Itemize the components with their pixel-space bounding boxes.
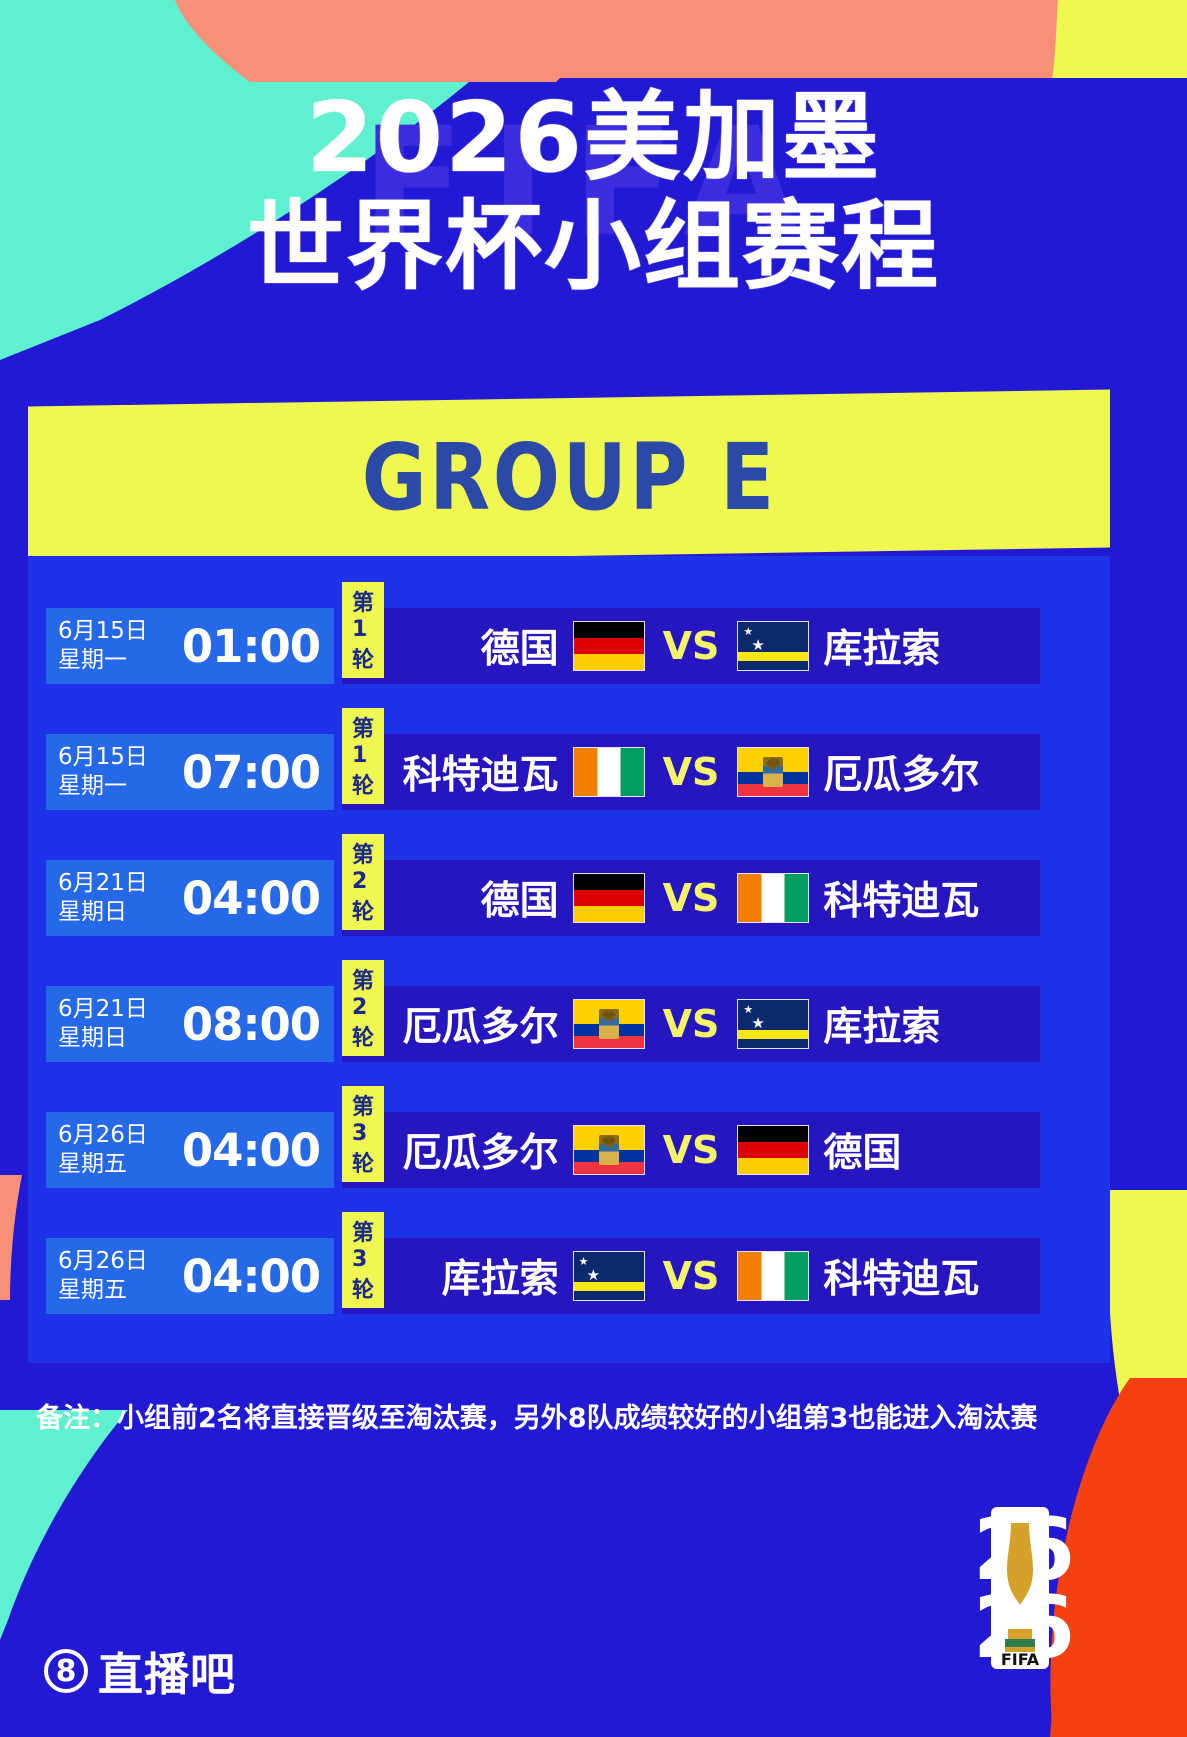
match-date-block: 6月15日 星期一 (46, 617, 168, 675)
match-teams: 厄瓜多尔 VS ★ ★ 库拉索 (342, 986, 1040, 1062)
away-team-name: 厄瓜多尔 (823, 744, 979, 800)
footnote: 备注：小组前2名将直接晋级至淘汰赛，另外8队成绩较好的小组第3也能进入淘汰赛 (36, 1396, 1156, 1435)
world-cup-trophy-icon: FIFA (991, 1507, 1049, 1669)
away-side: ★ ★ 库拉索 (737, 618, 1015, 674)
match-time: 04:00 (168, 1124, 334, 1177)
ivory-coast-flag (737, 1251, 809, 1301)
match-teams: 德国 VS ★ ★ 库拉索 (342, 608, 1040, 684)
curacao-flag: ★ ★ (573, 1251, 645, 1301)
match-datetime: 6月21日 星期日 04:00 (46, 860, 334, 936)
home-side: 德国 (367, 870, 645, 926)
match-datetime: 6月26日 星期五 04:00 (46, 1238, 334, 1314)
away-side: 厄瓜多尔 (737, 744, 1015, 800)
match-weekday: 星期五 (58, 1150, 168, 1179)
match-date: 6月21日 (58, 995, 168, 1024)
match-time: 04:00 (168, 1250, 334, 1303)
match-date: 6月21日 (58, 869, 168, 898)
away-team-name: 科特迪瓦 (823, 1248, 979, 1304)
match-teams: 库拉索 ★ ★ VS 科特迪瓦 (342, 1238, 1040, 1314)
vs-label: VS (659, 1128, 724, 1172)
ecuador-emblem (763, 757, 783, 787)
match-date-block: 6月21日 星期日 (46, 995, 168, 1053)
match-weekday: 星期日 (58, 898, 168, 927)
home-team-name: 厄瓜多尔 (403, 1122, 559, 1178)
germany-flag (573, 621, 645, 671)
ecuador-flag (737, 747, 809, 797)
curacao-stripe (738, 652, 808, 661)
away-team-name: 库拉索 (823, 618, 940, 674)
group-label: GROUP E (361, 424, 776, 531)
germany-flag (573, 873, 645, 923)
away-side: 德国 (737, 1122, 1015, 1178)
match-weekday: 星期五 (58, 1276, 168, 1305)
round-badge: 第3轮 (342, 1212, 384, 1308)
vs-label: VS (659, 624, 724, 668)
match-time: 08:00 (168, 998, 334, 1051)
match-date: 6月15日 (58, 743, 168, 772)
away-team-name: 科特迪瓦 (823, 870, 979, 926)
match-date: 6月15日 (58, 617, 168, 646)
yellow-shape-top-right (1052, 0, 1187, 80)
match-time: 01:00 (168, 620, 334, 673)
match-time: 07:00 (168, 746, 334, 799)
away-side: 科特迪瓦 (737, 1248, 1015, 1304)
match-teams: 科特迪瓦 VS 厄瓜多尔 (342, 734, 1040, 810)
yellow-shape-right (1108, 1190, 1187, 1400)
away-team-name: 德国 (823, 1122, 901, 1178)
match-date-block: 6月26日 星期五 (46, 1247, 168, 1305)
home-team-name: 科特迪瓦 (403, 744, 559, 800)
ecuador-flag (573, 999, 645, 1049)
curacao-star-large: ★ (587, 1268, 600, 1283)
schedule-panel: 第1轮 6月15日 星期一 01:00 德国 VS ★ ★ 库拉索 (28, 556, 1110, 1363)
match-datetime: 6月15日 星期一 07:00 (46, 734, 334, 810)
away-team-name: 库拉索 (823, 996, 940, 1052)
brand-logo: 8 直播吧 (44, 1638, 236, 1703)
round-badge: 第1轮 (342, 582, 384, 678)
match-date-block: 6月26日 星期五 (46, 1121, 168, 1179)
brand-name: 直播吧 (98, 1638, 236, 1703)
home-side: 厄瓜多尔 (367, 1122, 645, 1178)
match-weekday: 星期日 (58, 1024, 168, 1053)
vs-label: VS (659, 1002, 724, 1046)
ecuador-emblem (599, 1009, 619, 1039)
vs-label: VS (659, 1254, 724, 1298)
away-side: ★ ★ 库拉索 (737, 996, 1015, 1052)
curacao-stripe (738, 1030, 808, 1039)
orange-shape-bottom-strip (1050, 1700, 1187, 1737)
home-team-name: 德国 (481, 618, 559, 674)
curacao-star-large: ★ (751, 638, 764, 653)
match-time: 04:00 (168, 872, 334, 925)
home-side: 厄瓜多尔 (367, 996, 645, 1052)
fifa-2026-logo: 2 6 2 6 FIFA (949, 1493, 1097, 1685)
ecuador-flag (573, 1125, 645, 1175)
match-date-block: 6月15日 星期一 (46, 743, 168, 801)
vs-label: VS (659, 750, 724, 794)
home-team-name: 库拉索 (442, 1248, 559, 1304)
home-team-name: 德国 (481, 870, 559, 926)
round-badge: 第1轮 (342, 708, 384, 804)
ivory-coast-flag (737, 873, 809, 923)
curacao-star-large: ★ (751, 1016, 764, 1031)
round-badge: 第2轮 (342, 960, 384, 1056)
match-datetime: 6月26日 星期五 04:00 (46, 1112, 334, 1188)
match-teams: 厄瓜多尔 VS 德国 (342, 1112, 1040, 1188)
match-weekday: 星期一 (58, 772, 168, 801)
match-datetime: 6月15日 星期一 01:00 (46, 608, 334, 684)
group-banner: GROUP E (28, 390, 1110, 565)
curacao-stripe (574, 1282, 644, 1291)
home-side: 库拉索 ★ ★ (367, 1248, 645, 1304)
home-side: 德国 (367, 618, 645, 674)
match-date: 6月26日 (58, 1121, 168, 1150)
round-badge: 第3轮 (342, 1086, 384, 1182)
fifa-wordmark: FIFA (1001, 1650, 1040, 1669)
match-datetime: 6月21日 星期日 08:00 (46, 986, 334, 1062)
ecuador-emblem (599, 1135, 619, 1165)
curacao-flag: ★ ★ (737, 999, 809, 1049)
match-date: 6月26日 (58, 1247, 168, 1276)
home-side: 科特迪瓦 (367, 744, 645, 800)
match-date-block: 6月21日 星期日 (46, 869, 168, 927)
match-teams: 德国 VS 科特迪瓦 (342, 860, 1040, 936)
home-team-name: 厄瓜多尔 (403, 996, 559, 1052)
round-badge: 第2轮 (342, 834, 384, 930)
ivory-coast-flag (573, 747, 645, 797)
fifa-watermark: FIFA (0, 96, 1187, 270)
zhibo8-mark-icon: 8 (44, 1649, 88, 1693)
vs-label: VS (659, 876, 724, 920)
away-side: 科特迪瓦 (737, 870, 1015, 926)
curacao-flag: ★ ★ (737, 621, 809, 671)
match-weekday: 星期一 (58, 646, 168, 675)
germany-flag (737, 1125, 809, 1175)
